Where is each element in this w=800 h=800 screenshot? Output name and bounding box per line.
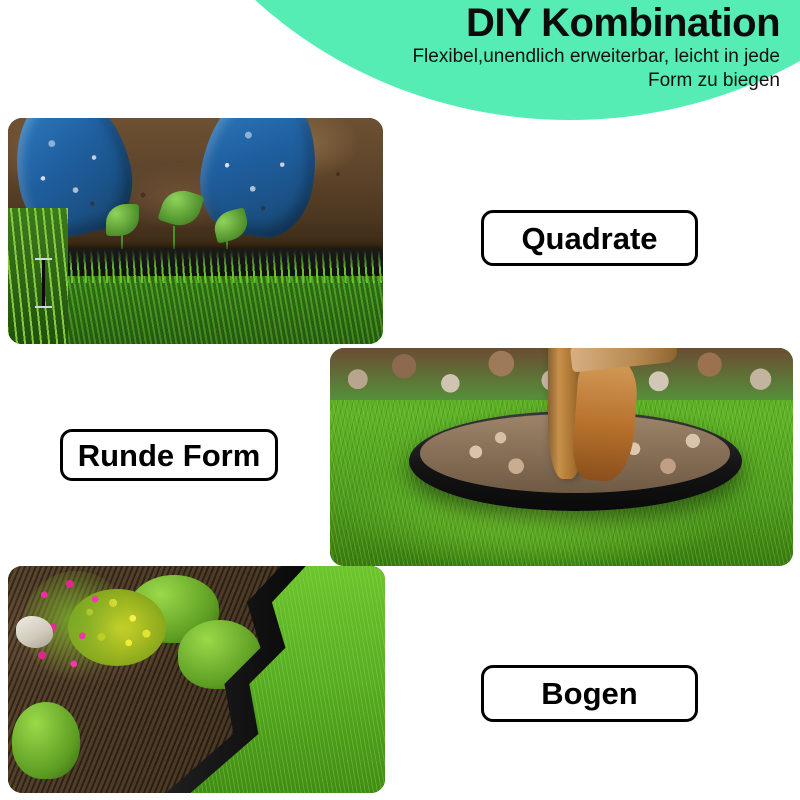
header-banner-text: DIY Kombination Flexibel,unendlich erwei… (120, 0, 800, 118)
caption-bogen: Bogen (481, 665, 698, 722)
shrub-c (12, 702, 80, 779)
page-subtitle: Flexibel,unendlich erweiterbar, leicht i… (120, 44, 780, 93)
header-banner: DIY Kombination Flexibel,unendlich erwei… (120, 0, 800, 120)
photo-planting (8, 118, 383, 344)
decorative-stone (16, 616, 54, 648)
photo-tree-ring-scene (330, 348, 793, 566)
caption-runde-form-label: Runde Form (78, 440, 261, 471)
page-subtitle-line-1: Flexibel,unendlich erweiterbar, leicht i… (120, 45, 780, 69)
photo-curved-border-scene (8, 566, 385, 793)
caption-bogen-label: Bogen (541, 678, 637, 709)
page-title: DIY Kombination (120, 0, 780, 44)
photo-planting-scene (8, 118, 383, 344)
product-infographic: DIY Kombination Flexibel,unendlich erwei… (0, 0, 800, 800)
page-subtitle-line-2: Form zu biegen (120, 69, 780, 93)
caption-runde-form: Runde Form (60, 429, 278, 481)
edging-stake (42, 258, 45, 308)
photo-tree-ring (330, 348, 793, 566)
caption-quadrate: Quadrate (481, 210, 698, 266)
caption-quadrate-label: Quadrate (521, 223, 657, 254)
lawn-grass-left (8, 208, 68, 344)
photo-curved-border (8, 566, 385, 793)
